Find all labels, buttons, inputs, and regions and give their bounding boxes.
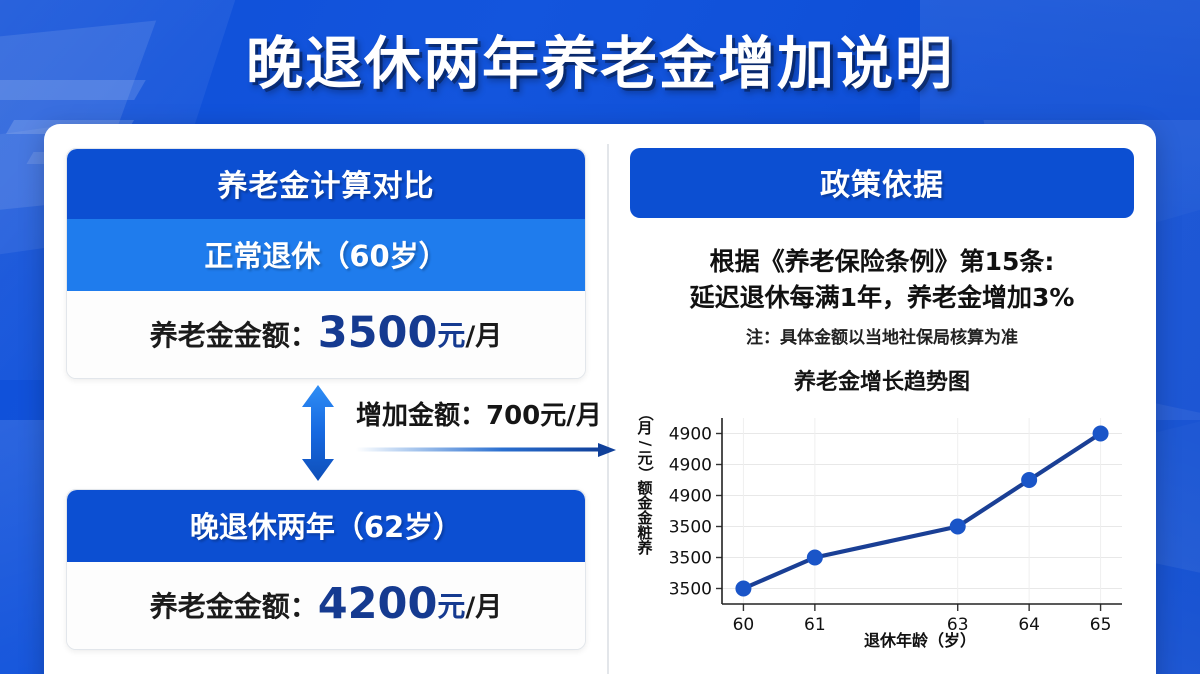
svg-text:4900: 4900 [669,425,712,445]
left-panel-header: 养老金计算对比 [67,149,585,219]
right-panel-header: 政策依据 [630,148,1134,218]
infographic-canvas: 晚退休两年养老金增加说明 养老金计算对比 正常退休（60岁） 养老金金额：350… [0,0,1200,674]
chart-x-axis-label: 退休年龄（岁） [864,631,976,650]
late-amount-per: /月 [465,592,502,623]
content-card: 养老金计算对比 正常退休（60岁） 养老金金额：3500元/月 [44,124,1156,674]
svg-text:3500: 3500 [669,580,712,600]
double-vertical-arrow-icon [298,383,338,483]
right-arrow-icon [356,442,616,458]
y-axis-label-char: （ [638,403,653,425]
pension-comparison-panel: 养老金计算对比 正常退休（60岁） 养老金金额：3500元/月 [66,148,586,650]
pension-growth-chart: 养老金增长趋势图 （月/元）额金金粧养 49004900490035003500… [630,364,1134,654]
late-amount-value: 4200 [318,579,438,629]
svg-text:60: 60 [733,615,755,635]
normal-retirement-amount-row: 养老金金额：3500元/月 [67,291,585,378]
policy-line-2: 延迟退休每满1年，养老金增加3% [630,280,1134,316]
normal-amount-prefix: 养老金金额： [150,319,318,352]
svg-text:65: 65 [1090,615,1112,635]
normal-retirement-card: 养老金计算对比 正常退休（60岁） 养老金金额：3500元/月 [66,148,586,379]
policy-basis-panel: 政策依据 根据《养老保险条例》第15条: 延迟退休每满1年，养老金增加3% 注：… [630,148,1134,654]
late-retirement-band-label: 晚退休两年（62岁） [67,490,585,562]
chart-gridlines [722,418,1122,604]
late-retirement-card: 晚退休两年（62岁） 养老金金额：4200元/月 [66,489,586,650]
normal-amount-unit: 元 [437,319,465,352]
svg-text:3500: 3500 [669,518,712,538]
delta-arrow-area: 增加金额：700元/月 [66,379,586,489]
svg-text:64: 64 [1018,615,1040,635]
y-axis-label-char: ） [638,463,653,485]
policy-note: 注：具体金额以当地社保局核算为准 [630,323,1134,348]
page-title: 晚退休两年养老金增加说明 [0,18,1200,100]
column-divider [607,144,609,674]
y-axis-label-char: / [638,433,653,455]
chart-axes [722,418,1122,604]
chart-title: 养老金增长趋势图 [630,364,1134,396]
policy-text-block: 根据《养老保险条例》第15条: 延迟退休每满1年，养老金增加3% 注：具体金额以… [630,218,1134,348]
chart-y-ticks: 490049004900350035003500 [669,425,722,600]
chart-series-line [743,434,1100,589]
svg-text:3500: 3500 [669,549,712,569]
normal-amount-value: 3500 [318,308,438,358]
svg-text:4900: 4900 [669,456,712,476]
chart-y-axis-label: （月/元）额金金粧养 [634,406,656,556]
chart-data-points [736,426,1108,596]
chart-plot-area: 490049004900350035003500 6061636465 退休年龄… [630,400,1134,652]
late-amount-prefix: 养老金金额： [150,590,318,623]
late-amount-unit: 元 [437,590,465,623]
late-retirement-amount-row: 养老金金额：4200元/月 [67,562,585,649]
delta-amount-label: 增加金额：700元/月 [356,395,602,432]
svg-text:61: 61 [804,615,826,635]
policy-line-1: 根据《养老保险条例》第15条: [630,244,1134,280]
svg-text:4900: 4900 [669,487,712,507]
normal-retirement-band-label: 正常退休（60岁） [67,219,585,291]
y-axis-label-char: 养 [634,541,656,556]
normal-amount-per: /月 [465,321,502,352]
